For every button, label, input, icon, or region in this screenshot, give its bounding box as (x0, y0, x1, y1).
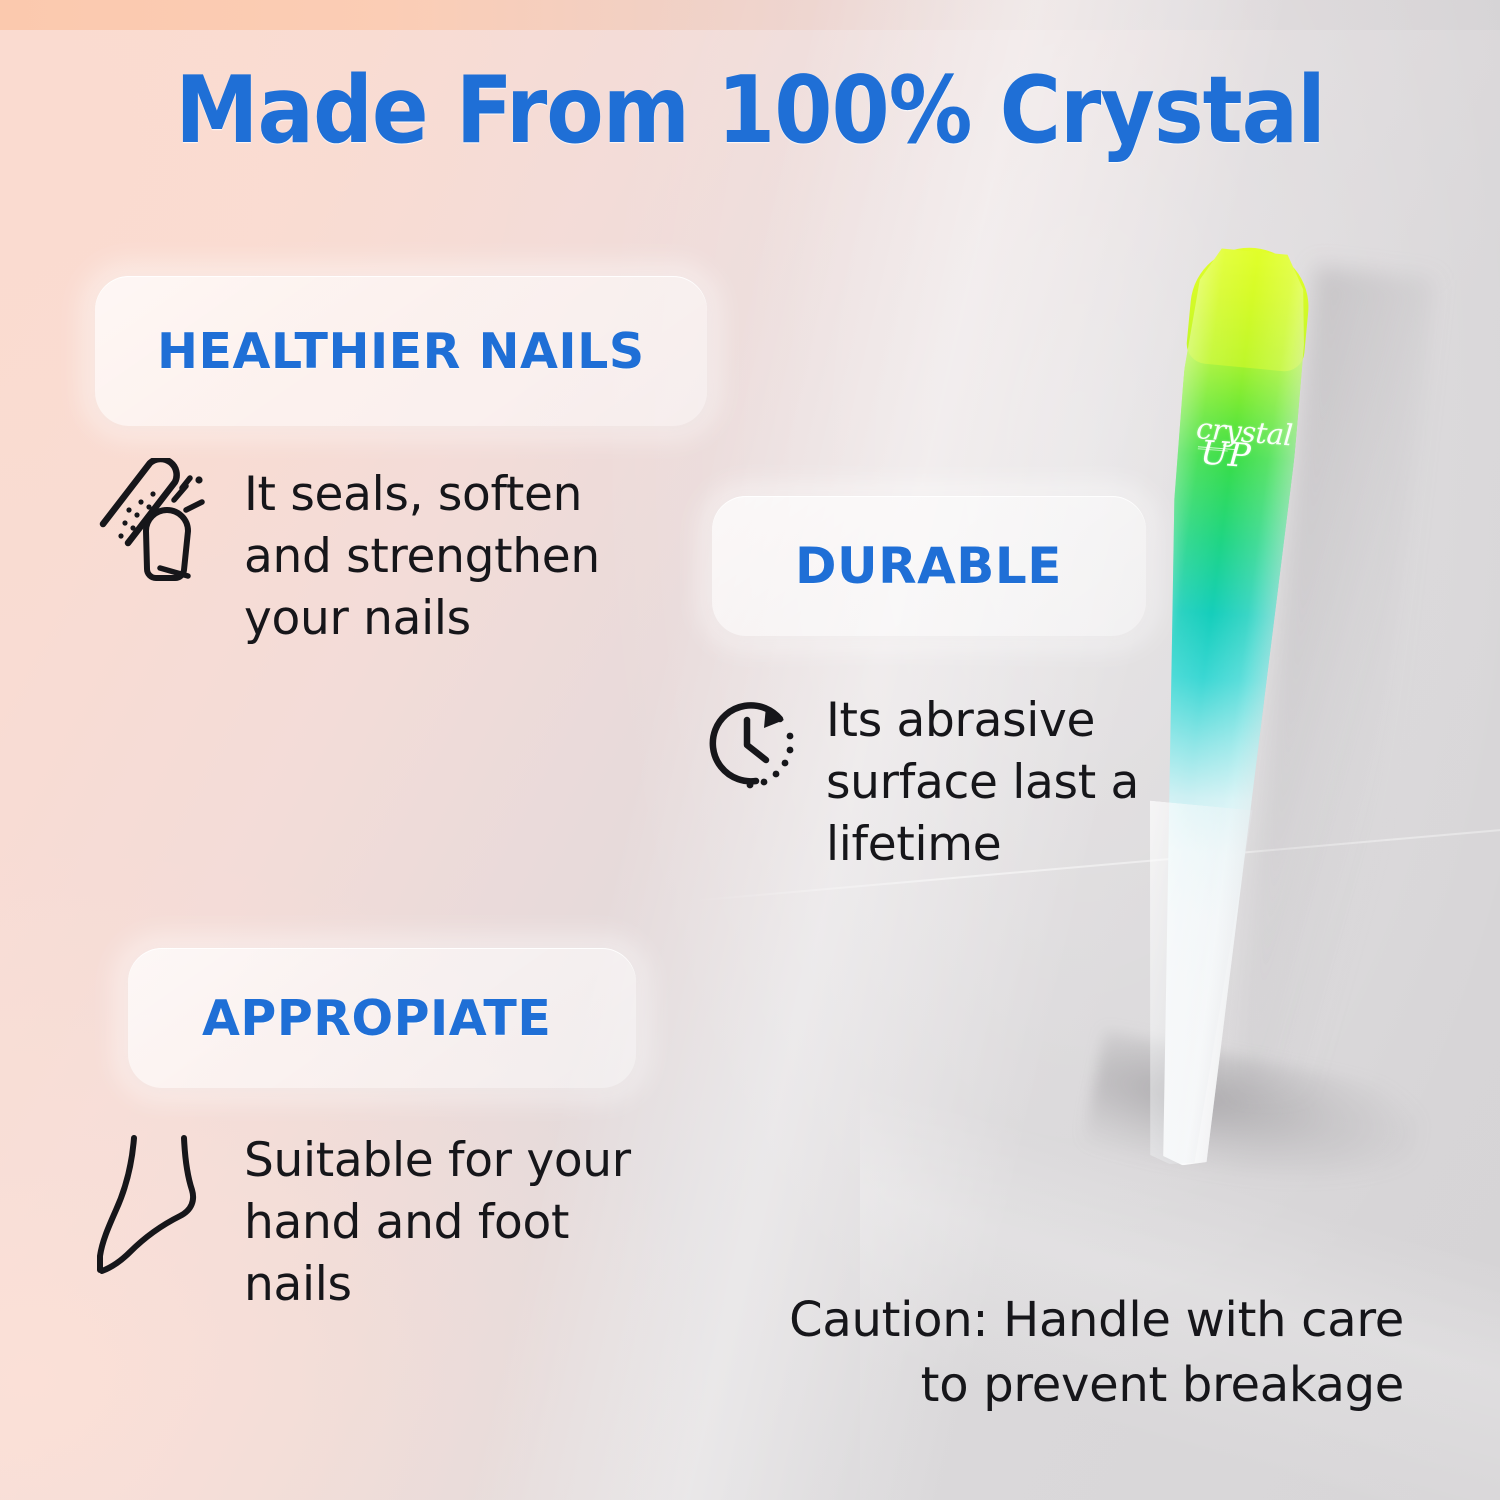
caution-note-line-1: Caution: Handle with care (664, 1288, 1404, 1353)
page-title-part-2: 100% Crystal (717, 56, 1325, 164)
clock-arrow-icon (694, 688, 804, 803)
feature-healthier-nails: It seals, soften and strengthen your nai… (98, 458, 698, 650)
caution-note-line-2: to prevent breakage (664, 1353, 1404, 1418)
page-title-part-1: Made From (175, 56, 717, 164)
badge-durable-label: DURABLE (795, 537, 1062, 595)
badge-durable: DURABLE (712, 496, 1146, 636)
caution-note: Caution: Handle with care to prevent bre… (664, 1288, 1404, 1418)
page-title: Made From 100% Crystal (0, 56, 1500, 164)
nail-file-buffing-icon (98, 458, 222, 587)
badge-appropiate: APPROPIATE (128, 948, 636, 1088)
feature-durable-text: Its abrasive surface last a lifetime (826, 690, 1156, 876)
badge-healthier-nails: HEALTHIER NAILS (95, 276, 707, 426)
product-infographic-stage: crystal UP Made From 100% Crystal HEALTH… (0, 0, 1500, 1500)
foot-icon (92, 1130, 222, 1285)
badge-appropiate-label: APPROPIATE (202, 990, 551, 1047)
feature-durable: Its abrasive surface last a lifetime (694, 688, 1164, 876)
feature-appropiate-text: Suitable for your hand and foot nails (244, 1130, 664, 1316)
feature-appropiate: Suitable for your hand and foot nails (92, 1130, 672, 1316)
feature-healthier-nails-text: It seals, soften and strengthen your nai… (244, 464, 674, 650)
badge-healthier-nails-label: HEALTHIER NAILS (157, 323, 645, 380)
background-top-warm-strip (0, 0, 1500, 30)
